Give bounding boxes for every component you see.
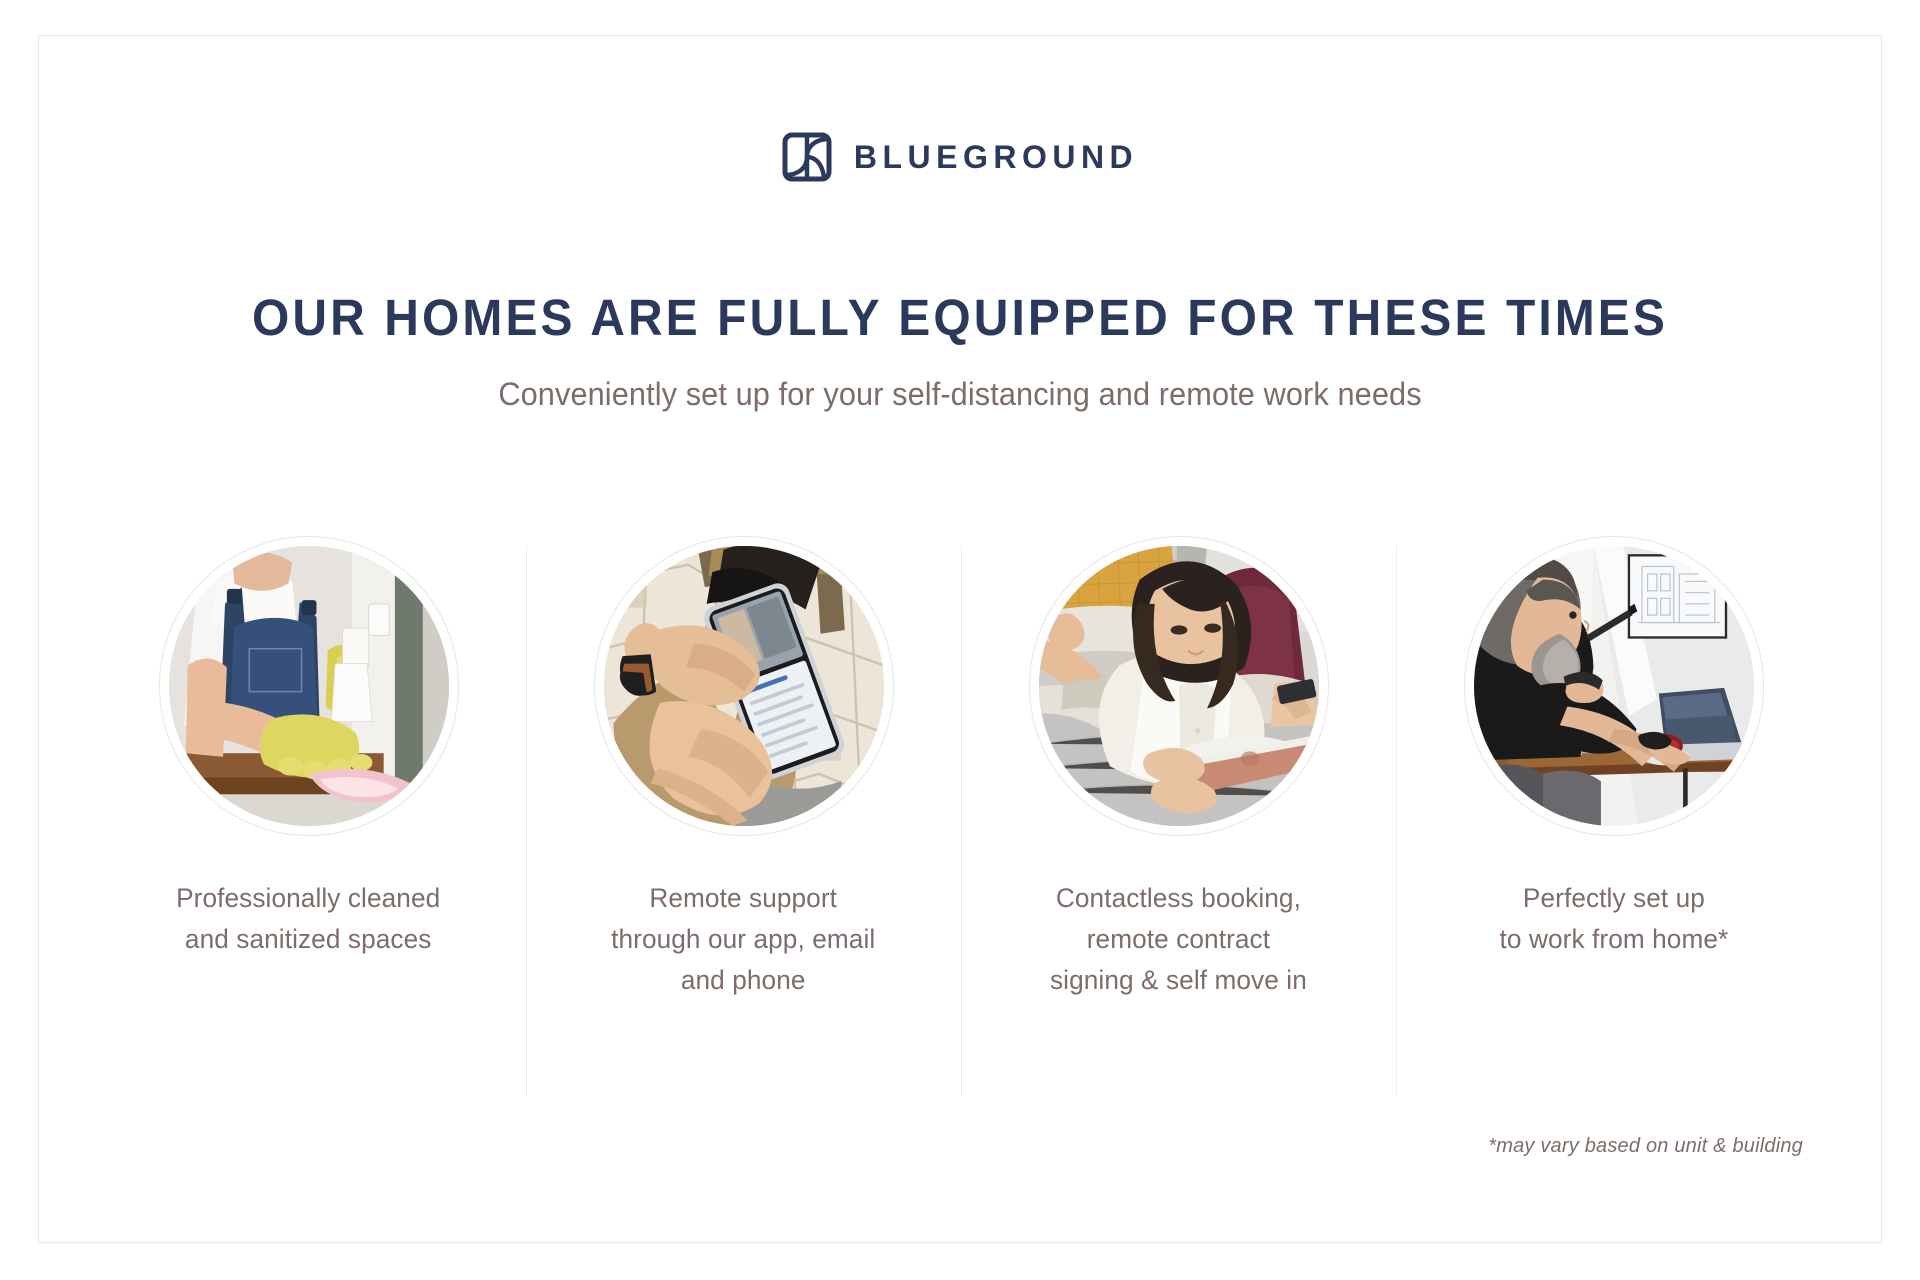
photo-ring [594,536,894,836]
poster-frame: BLUEGROUND OUR HOMES ARE FULLY EQUIPPED … [38,35,1882,1243]
blueground-square-logo-icon [782,132,832,182]
page-title: OUR HOMES ARE FULLY EQUIPPED FOR THESE T… [94,288,1825,347]
feature-caption: Professionally cleaned and sanitized spa… [176,878,440,960]
photo-remote-support [604,546,884,826]
photo-contactless-booking [1039,546,1319,826]
photo-ring [1464,536,1764,836]
feature-card-list: Professionally cleaned and sanitized spa… [91,511,1831,1101]
feature-caption: Remote support through our app, email an… [611,878,875,1001]
feature-card-cleaning: Professionally cleaned and sanitized spa… [91,511,526,1101]
photo-work-from-home [1474,546,1754,826]
footnote: *may vary based on unit & building [1488,1135,1803,1158]
photo-ring [1029,536,1329,836]
photo-ring [159,536,459,836]
brand-header: BLUEGROUND [39,132,1881,182]
feature-caption: Contactless booking, remote contract sig… [1050,878,1307,1001]
page-subtitle: Conveniently set up for your self-distan… [76,376,1844,413]
feature-caption: Perfectly set up to work from home* [1499,878,1728,960]
photo-cleaning [169,546,449,826]
feature-card-remote-support: Remote support through our app, email an… [526,511,961,1101]
feature-card-contactless-booking: Contactless booking, remote contract sig… [961,511,1396,1101]
brand-name: BLUEGROUND [854,141,1138,173]
feature-card-work-from-home: Perfectly set up to work from home* [1396,511,1831,1101]
